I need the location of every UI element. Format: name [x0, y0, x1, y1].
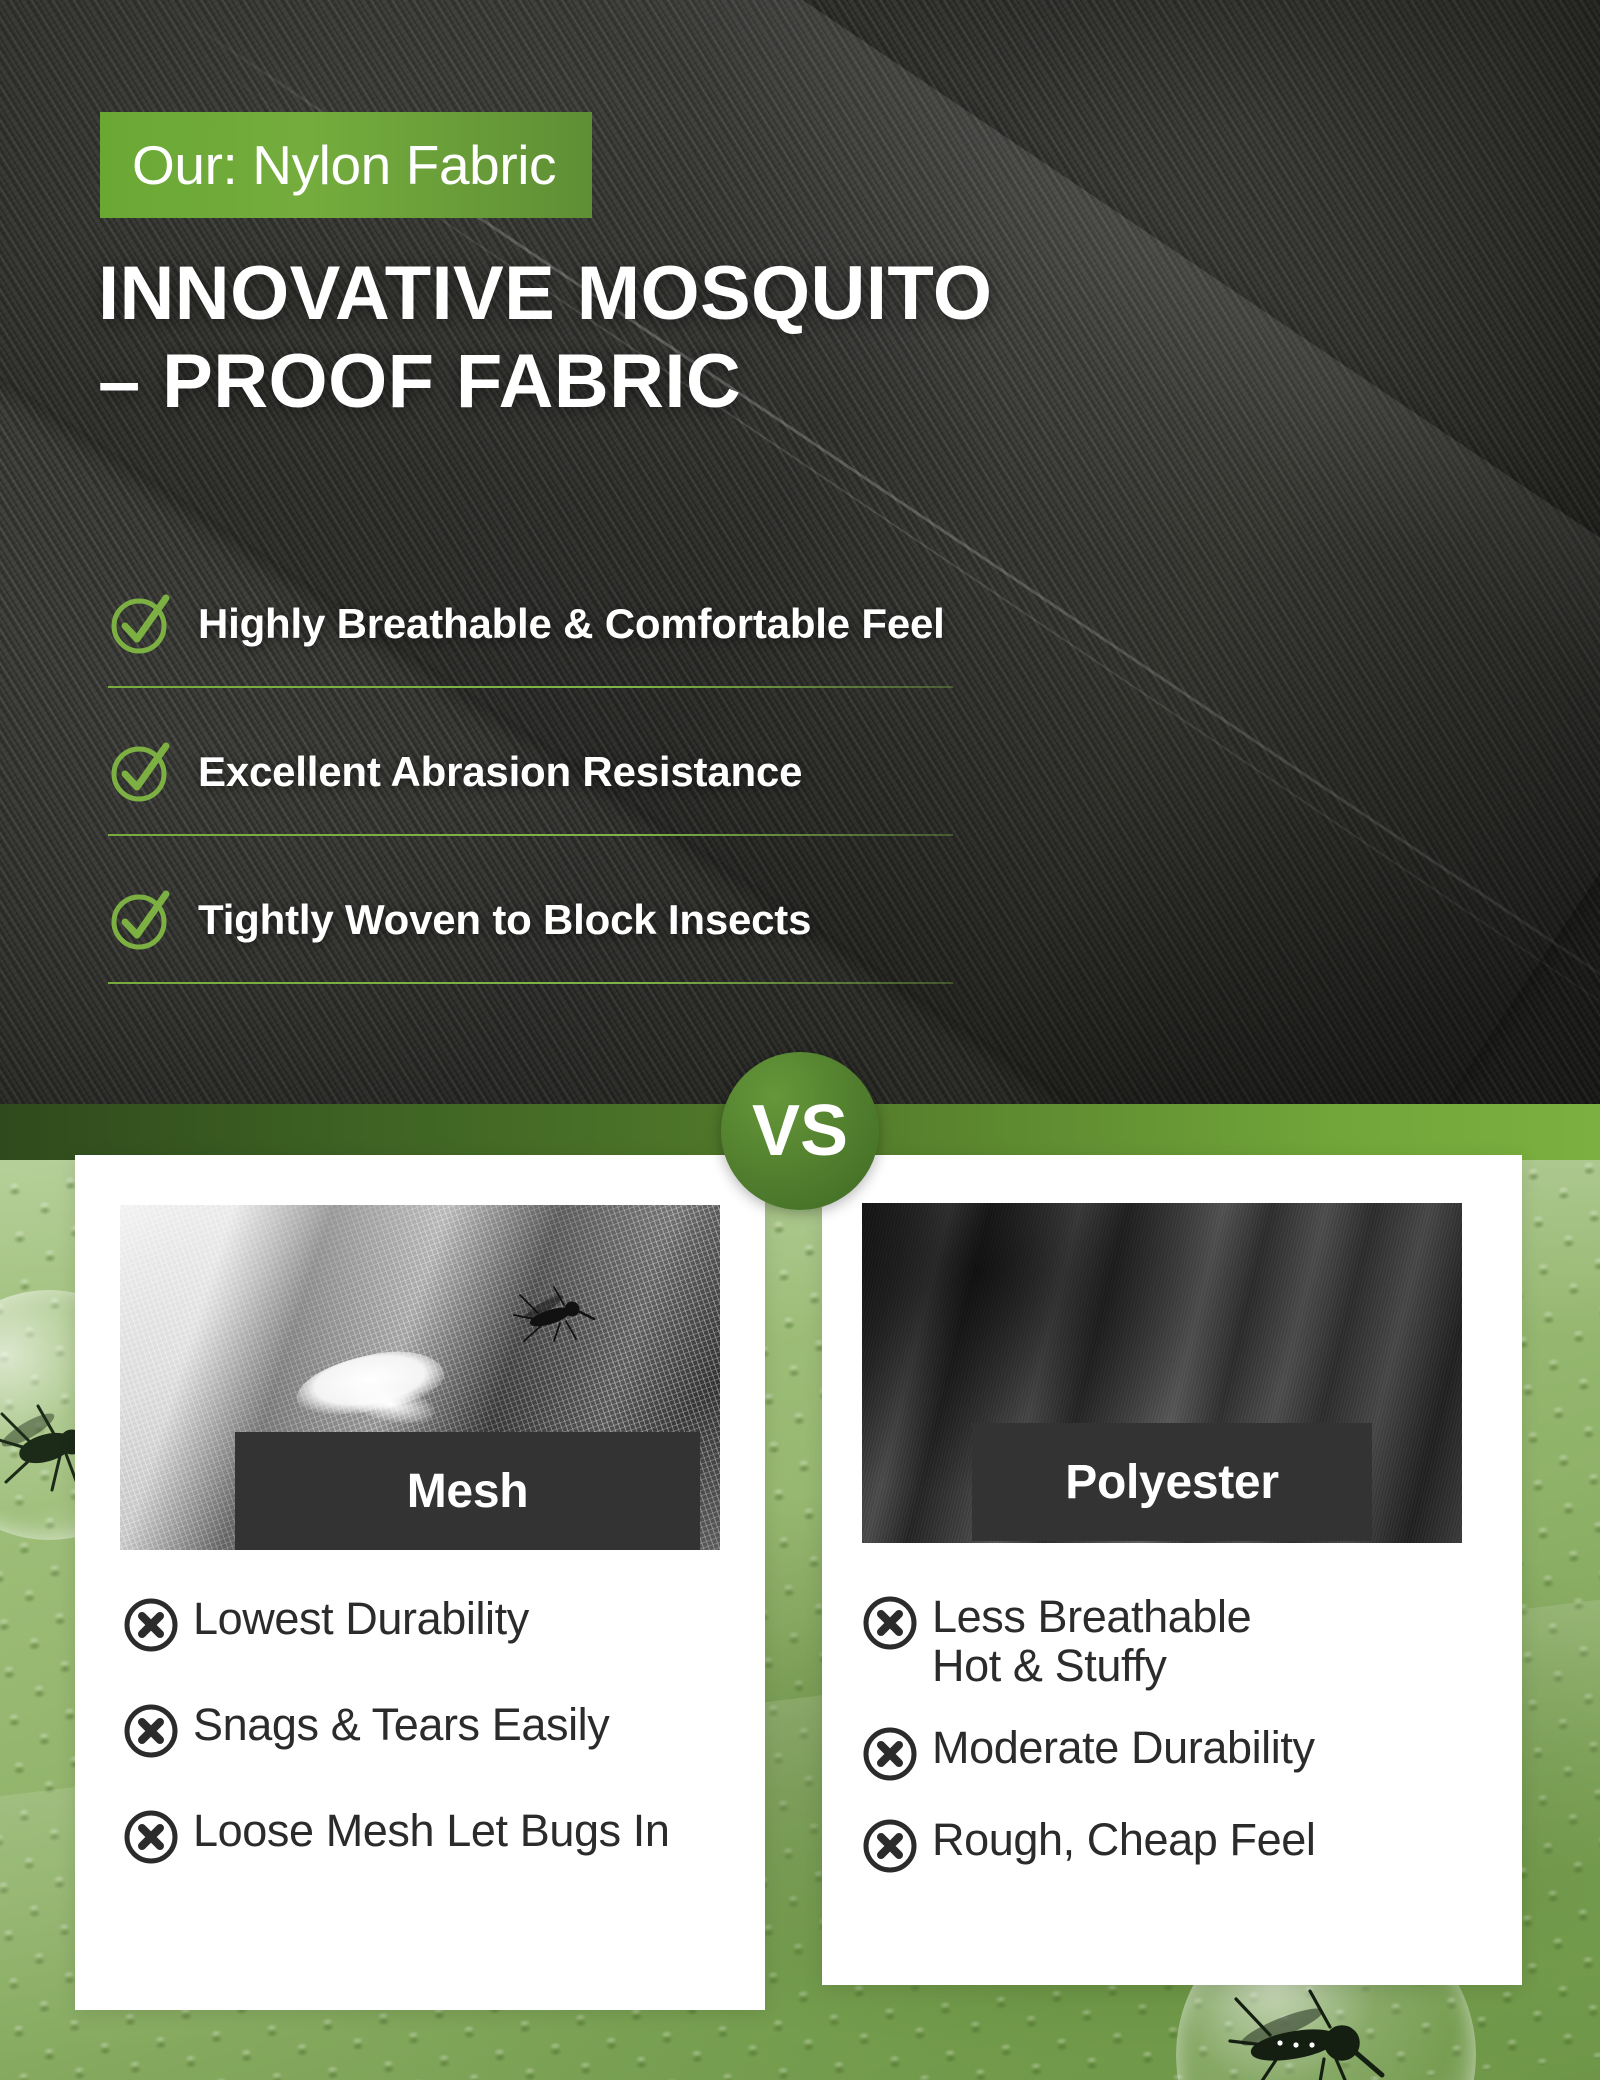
polyester-cons-list: Less Breathable Hot & Stuffy Moderate Du… — [862, 1593, 1482, 1908]
x-circle-icon — [862, 1818, 918, 1874]
list-item-label-line-1: Less Breathable — [932, 1591, 1251, 1642]
x-circle-icon — [123, 1597, 179, 1653]
list-item: Snags & Tears Easily — [123, 1701, 723, 1759]
infographic-page: Our: Nylon Fabric INNOVATIVE MOSQUITO – … — [0, 0, 1600, 2080]
mesh-cons-list: Lowest Durability Snags & Tears Easily — [123, 1595, 723, 1913]
list-item-label-line-2: Hot & Stuffy — [932, 1642, 1251, 1691]
list-item-label: Tightly Woven to Block Insects — [198, 896, 811, 944]
list-item-underline — [108, 834, 953, 836]
polyester-photo-caption: Polyester — [972, 1423, 1372, 1541]
list-item-label: Moderate Durability — [932, 1724, 1315, 1773]
list-item: Loose Mesh Let Bugs In — [123, 1807, 723, 1865]
list-item: Highly Breathable & Comfortable Feel — [108, 578, 1198, 726]
mesh-photo-caption: Mesh — [235, 1432, 700, 1550]
vs-badge-label: VS — [752, 1095, 848, 1167]
list-item-underline — [108, 982, 953, 984]
comparison-cards: Mesh Lowest Durability — [0, 1155, 1600, 2015]
mosquito-on-mesh-icon — [510, 1283, 606, 1345]
comparison-card-polyester: Polyester Less Breathable Hot & Stuffy — [822, 1155, 1522, 1985]
list-item: Moderate Durability — [862, 1724, 1482, 1782]
x-circle-icon — [862, 1595, 918, 1651]
polyester-photo-caption-label: Polyester — [1065, 1455, 1278, 1510]
check-circle-icon — [108, 591, 174, 657]
list-item: Lowest Durability — [123, 1595, 723, 1653]
list-item-label: Loose Mesh Let Bugs In — [193, 1807, 670, 1856]
page-title-line-1: INNOVATIVE MOSQUITO — [98, 251, 992, 336]
polyester-fabric-photo: Polyester — [862, 1203, 1462, 1543]
our-fabric-badge-label: Our: Nylon Fabric — [132, 138, 556, 193]
x-circle-icon — [862, 1726, 918, 1782]
x-circle-icon — [123, 1703, 179, 1759]
x-circle-icon — [123, 1809, 179, 1865]
page-title: INNOVATIVE MOSQUITO – PROOF FABRIC — [98, 250, 1358, 426]
mesh-fabric-photo: Mesh — [120, 1205, 720, 1550]
comparison-card-mesh: Mesh Lowest Durability — [75, 1155, 765, 2010]
list-item: Rough, Cheap Feel — [862, 1816, 1482, 1874]
list-item: Tightly Woven to Block Insects — [108, 874, 1198, 1022]
check-circle-icon — [108, 739, 174, 805]
list-item-label: Highly Breathable & Comfortable Feel — [198, 600, 945, 648]
check-circle-icon — [108, 887, 174, 953]
list-item: Excellent Abrasion Resistance — [108, 726, 1198, 874]
nylon-benefits-list: Highly Breathable & Comfortable Feel Exc… — [108, 578, 1198, 1022]
list-item-label: Rough, Cheap Feel — [932, 1816, 1315, 1865]
list-item-underline — [108, 686, 953, 688]
hero-content: Our: Nylon Fabric INNOVATIVE MOSQUITO – … — [0, 0, 1600, 1104]
page-title-line-2: – PROOF FABRIC — [98, 338, 1358, 426]
vs-badge: VS — [721, 1052, 879, 1210]
list-item-label: Snags & Tears Easily — [193, 1701, 609, 1750]
list-item-label: Less Breathable Hot & Stuffy — [932, 1593, 1251, 1690]
mesh-photo-caption-label: Mesh — [407, 1464, 529, 1519]
our-fabric-badge: Our: Nylon Fabric — [100, 112, 592, 218]
list-item-label: Lowest Durability — [193, 1595, 529, 1644]
list-item: Less Breathable Hot & Stuffy — [862, 1593, 1482, 1690]
list-item-label: Excellent Abrasion Resistance — [198, 748, 802, 796]
